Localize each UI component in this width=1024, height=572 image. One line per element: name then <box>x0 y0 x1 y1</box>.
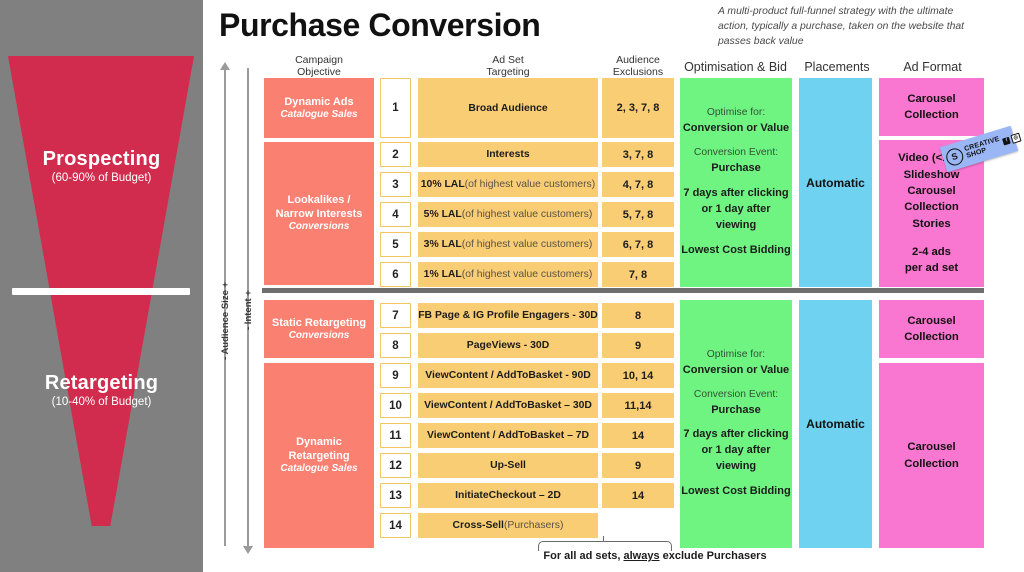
objective-type: Catalogue Sales <box>280 109 357 122</box>
objective-name-line2: Retargeting <box>288 449 349 463</box>
adset-target-bold: PageViews - 30D <box>467 340 549 351</box>
exclusions-cell[interactable]: 14 <box>602 423 674 448</box>
subtitle-description: A multi-product full-funnel strategy wit… <box>718 4 980 49</box>
objective-name-line1: Dynamic <box>296 435 342 449</box>
ad-format-line5: Stories <box>912 216 950 232</box>
arrow-up-icon <box>220 62 230 70</box>
adset-target-cell[interactable]: PageViews - 30D <box>418 333 598 358</box>
adset-target-muted: (of highest value customers) <box>462 209 593 220</box>
header-adset-targeting-line1: Ad Set <box>418 55 598 67</box>
footnote-text: For all ad sets, always exclude Purchase… <box>440 550 870 562</box>
adset-target-bold: 5% LAL <box>424 209 462 220</box>
adset-target-cell[interactable]: Interests <box>418 142 598 167</box>
ad-format-line4: Collection <box>904 199 959 215</box>
footnote-prefix: For all ad sets, <box>543 550 623 562</box>
row-number[interactable]: 8 <box>380 333 411 358</box>
adset-target-bold: 10% LAL <box>421 179 465 190</box>
creative-shop-wordmark: CREATIVE SHOP <box>964 136 1003 160</box>
ads-per-set-line1: 2-4 ads <box>912 244 951 260</box>
header-audience-exclusions-line2: Exclusions <box>602 67 674 79</box>
adset-target-cell[interactable]: 3% LAL (of highest value customers) <box>418 232 598 257</box>
adset-target-bold: InitiateCheckout – 2D <box>455 490 561 501</box>
conversion-event-label: Conversion Event: <box>680 146 792 161</box>
bidding-strategy: Lowest Cost Bidding <box>681 484 790 500</box>
retargeting-title: Retargeting <box>0 372 203 394</box>
row-number[interactable]: 3 <box>380 172 411 197</box>
ad-format-line1: Carousel <box>907 313 955 329</box>
row-number[interactable]: 5 <box>380 232 411 257</box>
ad-format-line3: Carousel <box>907 183 955 199</box>
exclusions-cell[interactable]: 6, 7, 8 <box>602 232 674 257</box>
spacer <box>681 475 790 484</box>
facebook-icon: f <box>1002 136 1011 145</box>
optimisation-card-retargeting[interactable]: Optimise for: Conversion or Value Conver… <box>680 300 792 548</box>
exclusions-cell[interactable]: 4, 7, 8 <box>602 172 674 197</box>
footnote-suffix: exclude Purchasers <box>660 550 767 562</box>
adset-target-muted: (of highest value customers) <box>462 269 593 280</box>
optimisation-content: Optimise for: Conversion or Value Conver… <box>680 106 792 258</box>
ad-format-card-retargeting-1[interactable]: Carousel Collection <box>879 300 984 358</box>
objective-card-dynamic-ads[interactable]: Dynamic Ads Catalogue Sales <box>264 78 374 138</box>
adset-target-bold: ViewContent / AddToBasket – 30D <box>424 400 592 411</box>
optimise-label: Optimise for: <box>681 348 790 363</box>
section-divider <box>262 288 984 293</box>
row-number[interactable]: 13 <box>380 483 411 508</box>
adset-target-cell[interactable]: 10% LAL (of highest value customers) <box>418 172 598 197</box>
prospecting-title: Prospecting <box>0 148 203 170</box>
adset-target-muted: (Purchasers) <box>504 520 563 531</box>
retargeting-budget: (10-40% of Budget) <box>0 396 203 408</box>
arrow-down-icon <box>243 546 253 554</box>
objective-name: Dynamic Ads <box>284 95 353 109</box>
adset-target-bold: 3% LAL <box>424 239 462 250</box>
optimise-label: Optimise for: <box>680 106 792 121</box>
header-audience-exclusions-line1: Audience <box>602 55 674 67</box>
adset-target-cell[interactable]: ViewContent / AddToBasket – 7D <box>418 423 598 448</box>
instagram-icon: ◎ <box>1010 132 1021 143</box>
header-audience-exclusions: Audience Exclusions <box>602 55 674 79</box>
exclusions-cell[interactable]: 3, 7, 8 <box>602 142 674 167</box>
funnel-stage-retargeting: Retargeting (10-40% of Budget) <box>0 372 203 408</box>
adset-target-bold: FB Page & IG Profile Engagers - 30D <box>418 310 598 321</box>
objective-name-line1: Lookalikes / <box>288 193 351 207</box>
ad-format-line1: Carousel <box>907 439 955 455</box>
adset-target-muted: (of highest value customers) <box>465 179 596 190</box>
row-number[interactable]: 4 <box>380 202 411 227</box>
header-campaign-objective: Campaign Objective <box>264 55 374 79</box>
objective-card-dynamic-retargeting[interactable]: Dynamic Retargeting Catalogue Sales <box>264 363 374 548</box>
adset-target-cell[interactable]: Broad Audience <box>418 78 598 138</box>
row-number[interactable]: 12 <box>380 453 411 478</box>
optimise-value: Conversion or Value <box>680 121 792 137</box>
exclusions-cell[interactable]: 7, 8 <box>602 262 674 287</box>
adset-target-bold: Cross-Sell <box>453 520 504 531</box>
ads-per-set-line2: per ad set <box>905 260 958 276</box>
adset-target-cell[interactable]: Up-Sell <box>418 453 598 478</box>
adset-target-cell[interactable]: InitiateCheckout – 2D <box>418 483 598 508</box>
adset-target-cell[interactable]: ViewContent / AddToBasket - 90D <box>418 363 598 388</box>
attribution-window-line2: or 1 day after viewing <box>680 202 792 234</box>
objective-type: Conversions <box>289 221 350 234</box>
exclusions-cell[interactable]: 8 <box>602 303 674 328</box>
adset-target-cell[interactable]: 5% LAL (of highest value customers) <box>418 202 598 227</box>
creative-shop-s-icon: S <box>944 146 965 167</box>
spacer <box>680 177 792 186</box>
objective-name: Static Retargeting <box>272 316 366 330</box>
row-number[interactable]: 9 <box>380 363 411 388</box>
adset-target-cell[interactable]: 1% LAL (of highest value customers) <box>418 262 598 287</box>
exclusions-cell[interactable]: 2, 3, 7, 8 <box>602 78 674 138</box>
exclusions-cell[interactable]: 11,14 <box>602 393 674 418</box>
adset-target-cell[interactable]: Cross-Sell (Purchasers) <box>418 513 598 538</box>
header-campaign-objective-line1: Campaign <box>264 55 374 67</box>
exclusions-cell[interactable]: 10, 14 <box>602 363 674 388</box>
objective-name-line2: Narrow Interests <box>276 207 363 221</box>
conversion-event-label: Conversion Event: <box>681 388 790 403</box>
adset-target-bold: ViewContent / AddToBasket - 90D <box>425 370 591 381</box>
page-title: Purchase Conversion <box>219 7 540 44</box>
header-adset-targeting: Ad Set Targeting <box>418 55 598 79</box>
spacer <box>681 418 790 427</box>
audience-size-axis-label: - Audience Size + <box>220 282 231 360</box>
optimise-value: Conversion or Value <box>681 363 790 379</box>
funnel-stage-divider <box>12 288 190 295</box>
attribution-window-line3: viewing <box>681 459 790 475</box>
header-ad-format: Ad Format <box>880 60 985 74</box>
adset-target-bold: ViewContent / AddToBasket – 7D <box>427 430 589 441</box>
exclusions-cell[interactable]: 14 <box>602 483 674 508</box>
ad-format-card-prospecting-1[interactable]: Carousel Collection <box>879 78 984 136</box>
adset-target-muted: (of highest value customers) <box>462 239 593 250</box>
row-number[interactable]: 10 <box>380 393 411 418</box>
header-campaign-objective-line2: Objective <box>264 67 374 79</box>
row-number[interactable]: 1 <box>380 78 411 138</box>
conversion-event-value: Purchase <box>680 161 792 177</box>
row-number[interactable]: 11 <box>380 423 411 448</box>
footnote-emphasis: always <box>623 550 659 562</box>
placements-card-prospecting[interactable]: Automatic <box>799 78 872 287</box>
adset-target-bold: Interests <box>486 149 529 160</box>
footnote-bracket-tick <box>603 536 604 542</box>
row-number[interactable]: 14 <box>380 513 411 538</box>
axis-area: - Audience Size + - Intent + <box>206 0 258 572</box>
adset-target-cell[interactable]: ViewContent / AddToBasket – 30D <box>418 393 598 418</box>
objective-card-static-retargeting[interactable]: Static Retargeting Conversions <box>264 300 374 358</box>
ad-format-line2: Collection <box>904 456 959 472</box>
header-adset-targeting-line2: Targeting <box>418 67 598 79</box>
spacer <box>681 379 790 388</box>
prospecting-budget: (60-90% of Budget) <box>0 172 203 184</box>
row-number[interactable]: 7 <box>380 303 411 328</box>
conversion-event-value: Purchase <box>681 403 790 419</box>
attribution-window-line1: 7 days after clicking <box>680 186 792 202</box>
adset-target-bold: 1% LAL <box>424 269 462 280</box>
objective-card-lookalikes[interactable]: Lookalikes / Narrow Interests Conversion… <box>264 142 374 285</box>
objective-type: Conversions <box>289 330 350 343</box>
header-placements: Placements <box>797 60 877 74</box>
spacer <box>680 234 792 243</box>
bidding-strategy: Lowest Cost Bidding <box>680 243 792 259</box>
adset-target-cell[interactable]: FB Page & IG Profile Engagers - 30D <box>418 303 598 328</box>
optimisation-card-prospecting[interactable]: Optimise for: Conversion or Value Conver… <box>680 78 792 287</box>
ad-format-line2: Collection <box>904 329 959 345</box>
optimisation-content: Optimise for: Conversion or Value Conver… <box>681 348 790 500</box>
attribution-window-line1: 7 days after clicking <box>681 427 790 443</box>
placements-card-retargeting[interactable]: Automatic <box>799 300 872 548</box>
exclusions-cell[interactable]: 5, 7, 8 <box>602 202 674 227</box>
ad-format-line2: Collection <box>904 107 959 123</box>
ad-format-card-retargeting-2[interactable]: Carousel Collection <box>879 363 984 548</box>
exclusions-cell[interactable]: 9 <box>602 333 674 358</box>
spacer <box>680 137 792 146</box>
row-number[interactable]: 2 <box>380 142 411 167</box>
attribution-window-line2: or 1 day after <box>681 443 790 459</box>
row-number[interactable]: 6 <box>380 262 411 287</box>
intent-axis-label: - Intent + <box>243 290 254 330</box>
adset-target-bold: Broad Audience <box>468 103 547 114</box>
funnel-stage-prospecting: Prospecting (60-90% of Budget) <box>0 148 203 184</box>
sticker-social-icons: f ◎ <box>1002 132 1021 146</box>
funnel-panel: Prospecting (60-90% of Budget) Retargeti… <box>0 0 203 572</box>
objective-type: Catalogue Sales <box>280 463 357 476</box>
adset-target-bold: Up-Sell <box>490 460 526 471</box>
ad-format-line1: Carousel <box>907 91 955 107</box>
exclusions-cell[interactable]: 9 <box>602 453 674 478</box>
header-optimisation-bid: Optimisation & Bid <box>678 60 793 74</box>
